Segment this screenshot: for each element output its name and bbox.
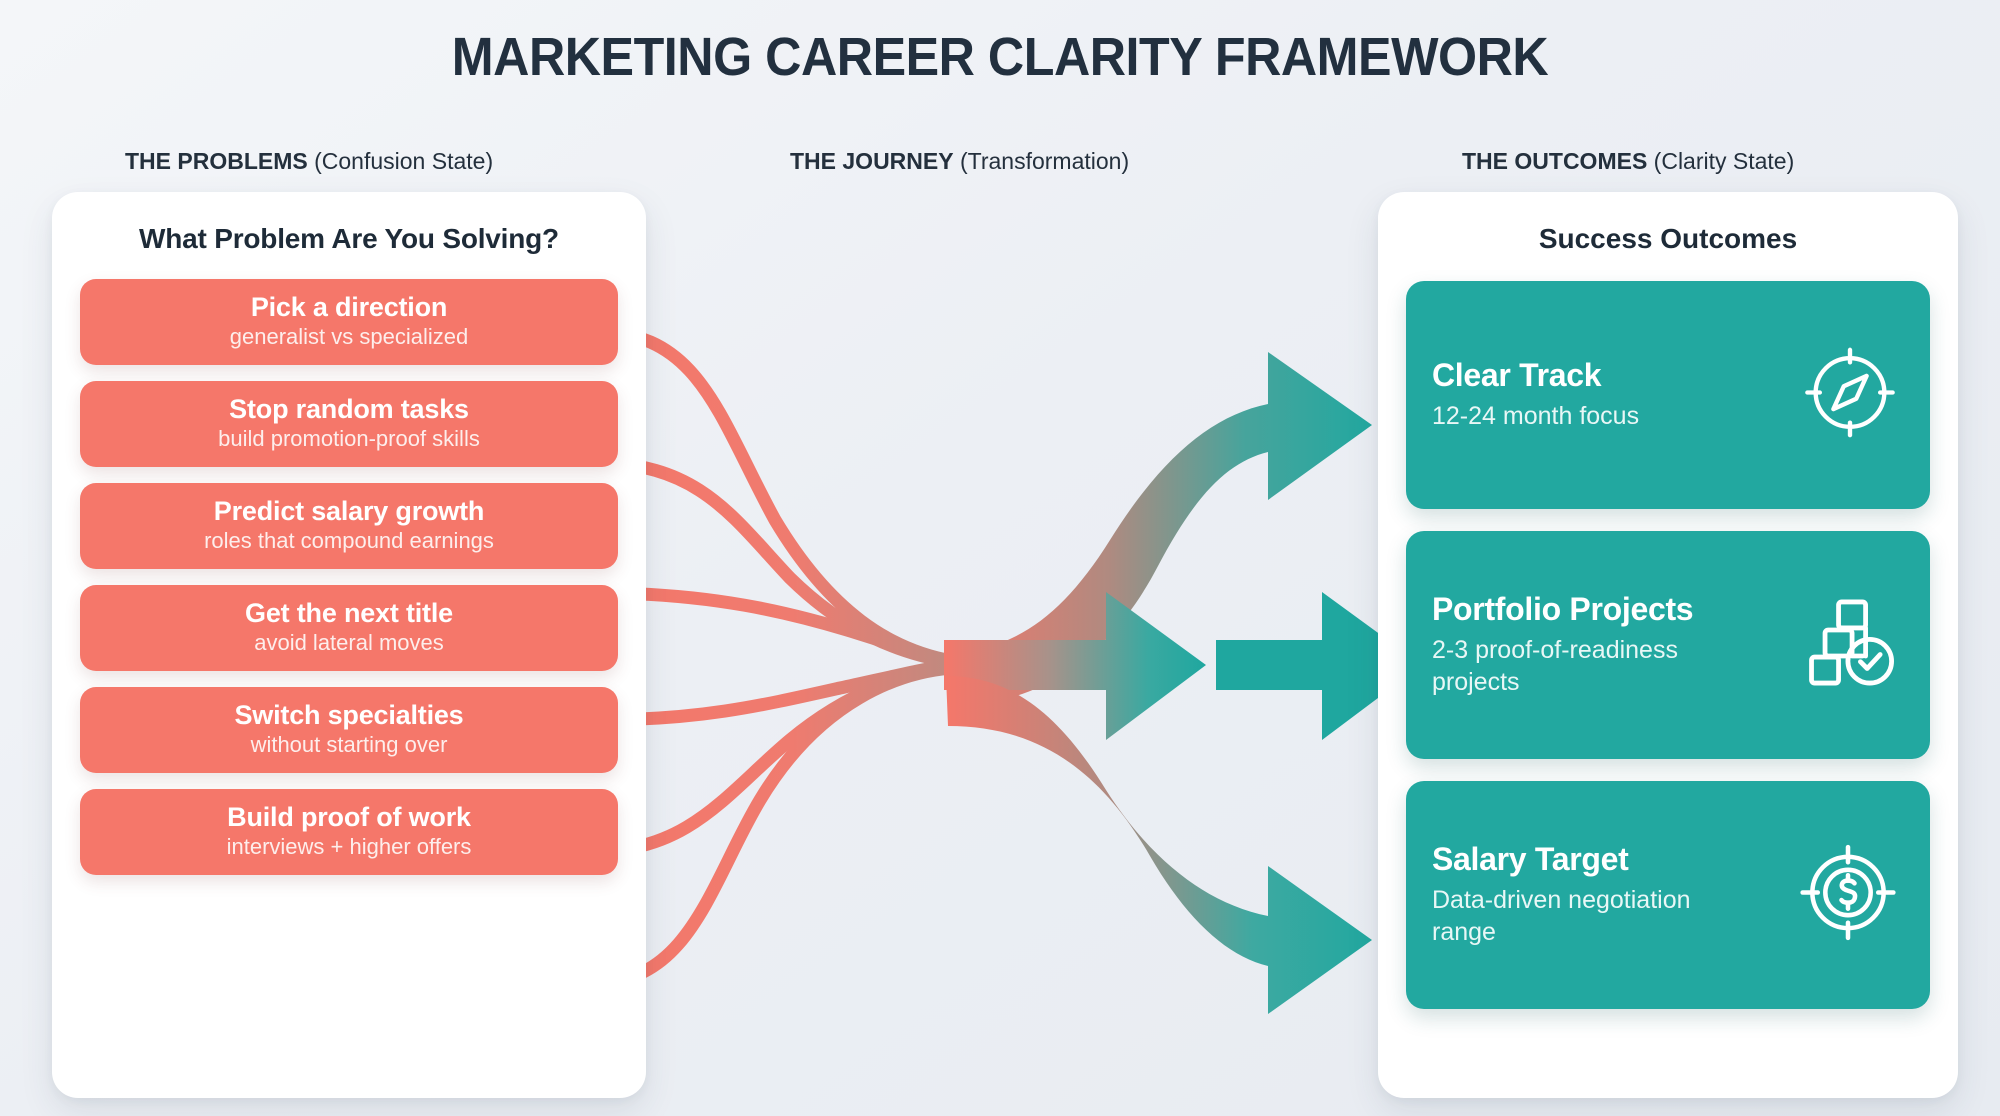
outcome-card-1-subtitle: 12-24 month focus <box>1432 400 1639 432</box>
problem-card-4[interactable]: Get the next title avoid lateral moves <box>80 585 618 671</box>
problem-card-6-title: Build proof of work <box>227 803 471 831</box>
outcomes-panel: Success Outcomes Clear Track 12-24 month… <box>1378 192 1958 1098</box>
column-header-problems: THE PROBLEMS (Confusion State) <box>125 148 493 175</box>
problems-panel-heading: What Problem Are You Solving? <box>52 223 646 255</box>
problem-connector-lines <box>598 332 952 982</box>
problem-card-3-title: Predict salary growth <box>214 497 484 525</box>
column-header-problems-strong: THE PROBLEMS <box>125 148 308 174</box>
problem-card-2-title: Stop random tasks <box>229 395 469 423</box>
problem-card-5-title: Switch specialties <box>235 701 464 729</box>
compass-icon <box>1798 341 1902 450</box>
flow-arrow-middle <box>944 592 1206 740</box>
problem-card-2[interactable]: Stop random tasks build promotion-proof … <box>80 381 618 467</box>
outcome-card-2-subtitle: 2-3 proof-of-readiness projects <box>1432 634 1732 698</box>
connector-line-5 <box>598 666 952 851</box>
column-header-problems-light: (Confusion State) <box>314 148 493 174</box>
connector-line-2 <box>598 463 952 662</box>
page-title: MARKETING CAREER CLARITY FRAMEWORK <box>70 26 1930 88</box>
outcome-card-1-title: Clear Track <box>1432 358 1639 393</box>
outcomes-panel-heading: Success Outcomes <box>1378 223 1958 255</box>
connector-line-1 <box>598 332 952 661</box>
flow-arrow-bottom <box>946 676 1372 1014</box>
problem-card-3[interactable]: Predict salary growth roles that compoun… <box>80 483 618 569</box>
problem-card-6-subtitle: interviews + higher offers <box>227 834 472 860</box>
column-header-journey-strong: THE JOURNEY <box>790 148 954 174</box>
outcome-list: Clear Track 12-24 month focus Portfolio … <box>1378 281 1958 1009</box>
column-header-outcomes-light: (Clarity State) <box>1654 148 1795 174</box>
connector-line-3 <box>598 593 952 663</box>
problem-card-4-title: Get the next title <box>245 599 453 627</box>
connector-line-6 <box>598 668 952 982</box>
problem-card-3-subtitle: roles that compound earnings <box>204 528 494 554</box>
flow-arrow-top <box>946 352 1372 706</box>
column-header-outcomes-strong: THE OUTCOMES <box>1462 148 1647 174</box>
problem-card-1[interactable]: Pick a direction generalist vs specializ… <box>80 279 618 365</box>
problem-card-5[interactable]: Switch specialties without starting over <box>80 687 618 773</box>
problem-card-1-title: Pick a direction <box>251 293 447 321</box>
problem-list: Pick a direction generalist vs specializ… <box>52 279 646 875</box>
problem-card-1-subtitle: generalist vs specialized <box>230 324 468 350</box>
outcome-card-portfolio-projects[interactable]: Portfolio Projects 2-3 proof-of-readines… <box>1406 531 1930 759</box>
target-dollar-icon <box>1794 839 1902 952</box>
problem-card-2-subtitle: build promotion-proof skills <box>218 426 480 452</box>
outcome-card-3-subtitle: Data-driven negotiation range <box>1432 884 1732 948</box>
outcome-card-salary-target[interactable]: Salary Target Data-driven negotiation ra… <box>1406 781 1930 1009</box>
column-header-journey-light: (Transformation) <box>960 148 1129 174</box>
problem-card-5-subtitle: without starting over <box>251 732 448 758</box>
outcome-card-2-title: Portfolio Projects <box>1432 592 1732 627</box>
problem-card-6[interactable]: Build proof of work interviews + higher … <box>80 789 618 875</box>
outcome-card-3-title: Salary Target <box>1432 842 1732 877</box>
stacked-blocks-check-icon <box>1798 591 1902 700</box>
connector-line-4 <box>598 665 952 720</box>
outcome-card-clear-track[interactable]: Clear Track 12-24 month focus <box>1406 281 1930 509</box>
column-header-journey: THE JOURNEY (Transformation) <box>790 148 1129 175</box>
column-header-outcomes: THE OUTCOMES (Clarity State) <box>1462 148 1794 175</box>
problems-panel: What Problem Are You Solving? Pick a dir… <box>52 192 646 1098</box>
problem-card-4-subtitle: avoid lateral moves <box>254 630 444 656</box>
